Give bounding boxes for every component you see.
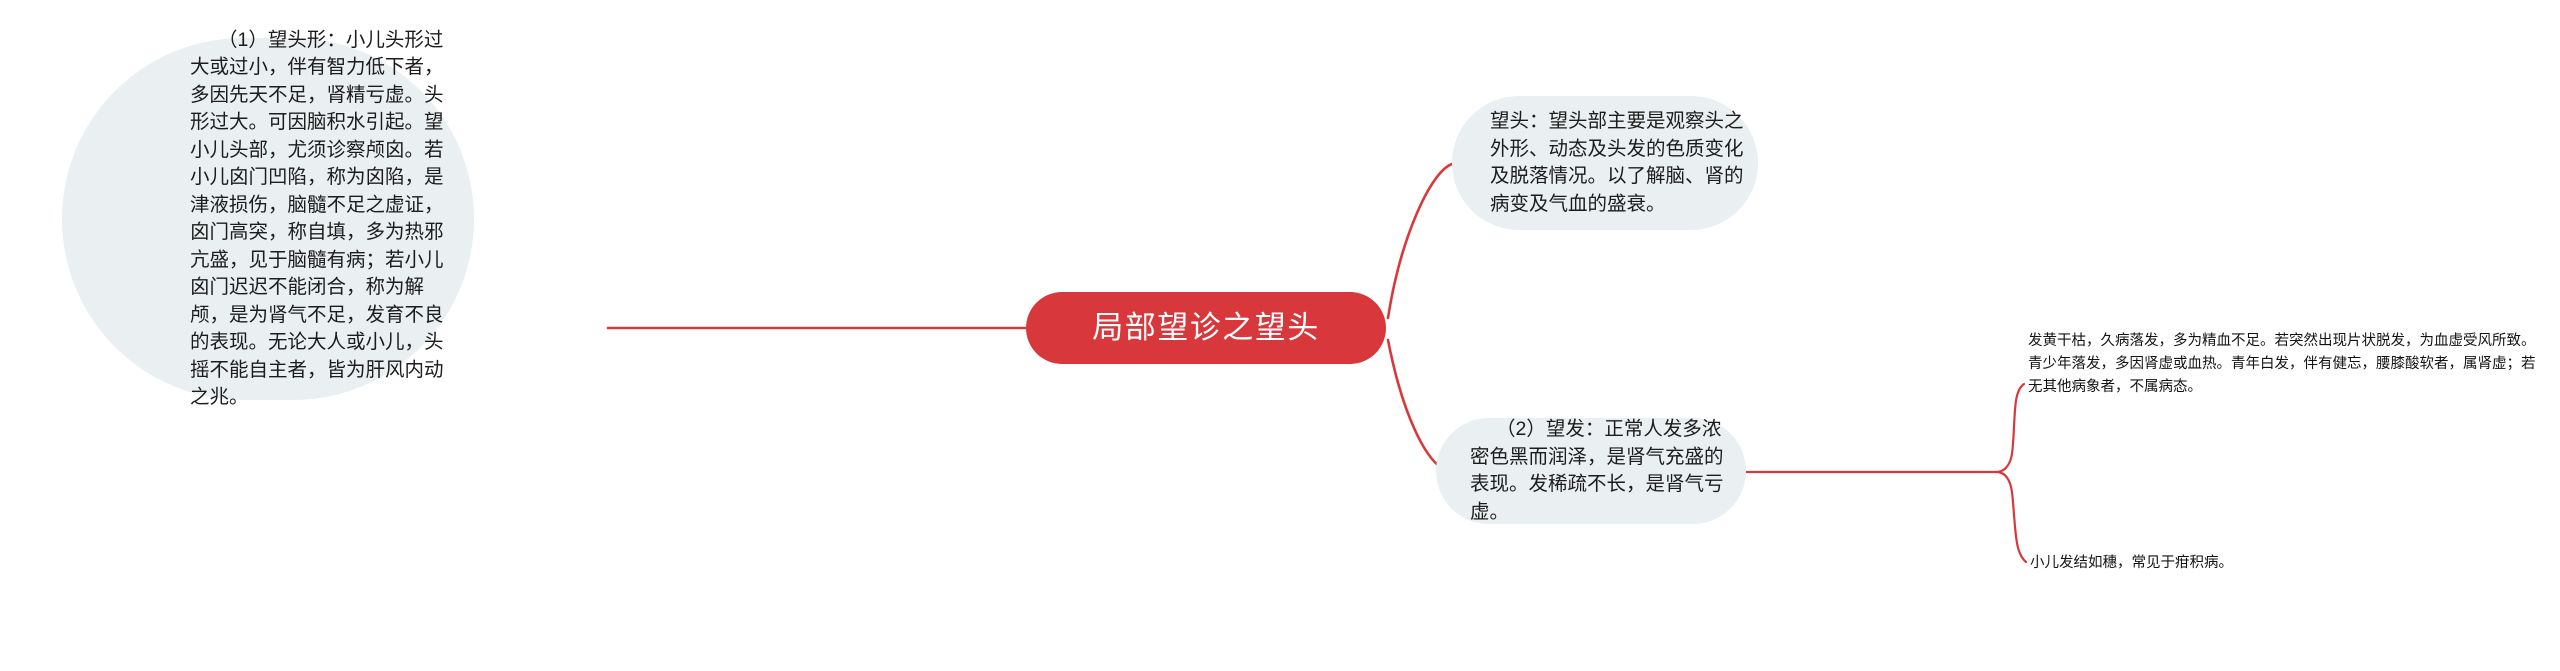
node-wang-tou-xing[interactable]: （1）望头形：小儿头形过大或过小，伴有智力低下者，多因先天不足，肾精亏虚。头形过… (62, 38, 474, 400)
node-wang-fa[interactable]: （2）望发：正常人发多浓密色黑而润泽，是肾气充盛的表现。发稀疏不长，是肾气亏虚。 (1436, 418, 1746, 524)
branch-line-leaf-knot (1996, 472, 2026, 562)
node-wang-tou-xing-text: （1）望头形：小儿头形过大或过小，伴有智力低下者，多因先天不足，肾精亏虚。头形过… (190, 27, 458, 412)
node-wang-tou[interactable]: 望头：望头部主要是观察头之外形、动态及头发的色质变化及脱落情况。以了解脑、肾的病… (1452, 96, 1758, 230)
branch-line-top-right (1388, 164, 1452, 318)
node-root-topic-label: 局部望诊之望头 (1092, 311, 1320, 345)
mindmap-canvas: （1）望头形：小儿头形过大或过小，伴有智力低下者，多因先天不足，肾精亏虚。头形过… (0, 0, 2560, 671)
node-wang-fa-text: （2）望发：正常人发多浓密色黑而润泽，是肾气充盛的表现。发稀疏不长，是肾气亏虚。 (1470, 416, 1732, 526)
leaf-hair-signs[interactable]: 发黄干枯，久病落发，多为精血不足。若突然出现片状脱发，为血虚受风所致。青少年落发… (2028, 330, 2540, 399)
branch-line-leaf-hair (1996, 384, 2024, 472)
node-wang-tou-text: 望头：望头部主要是观察头之外形、动态及头发的色质变化及脱落情况。以了解脑、肾的病… (1490, 108, 1748, 218)
leaf-hair-knot[interactable]: 小儿发结如穗，常见于疳积病。 (2030, 553, 2510, 574)
node-root-topic[interactable]: 局部望诊之望头 (1026, 292, 1386, 364)
